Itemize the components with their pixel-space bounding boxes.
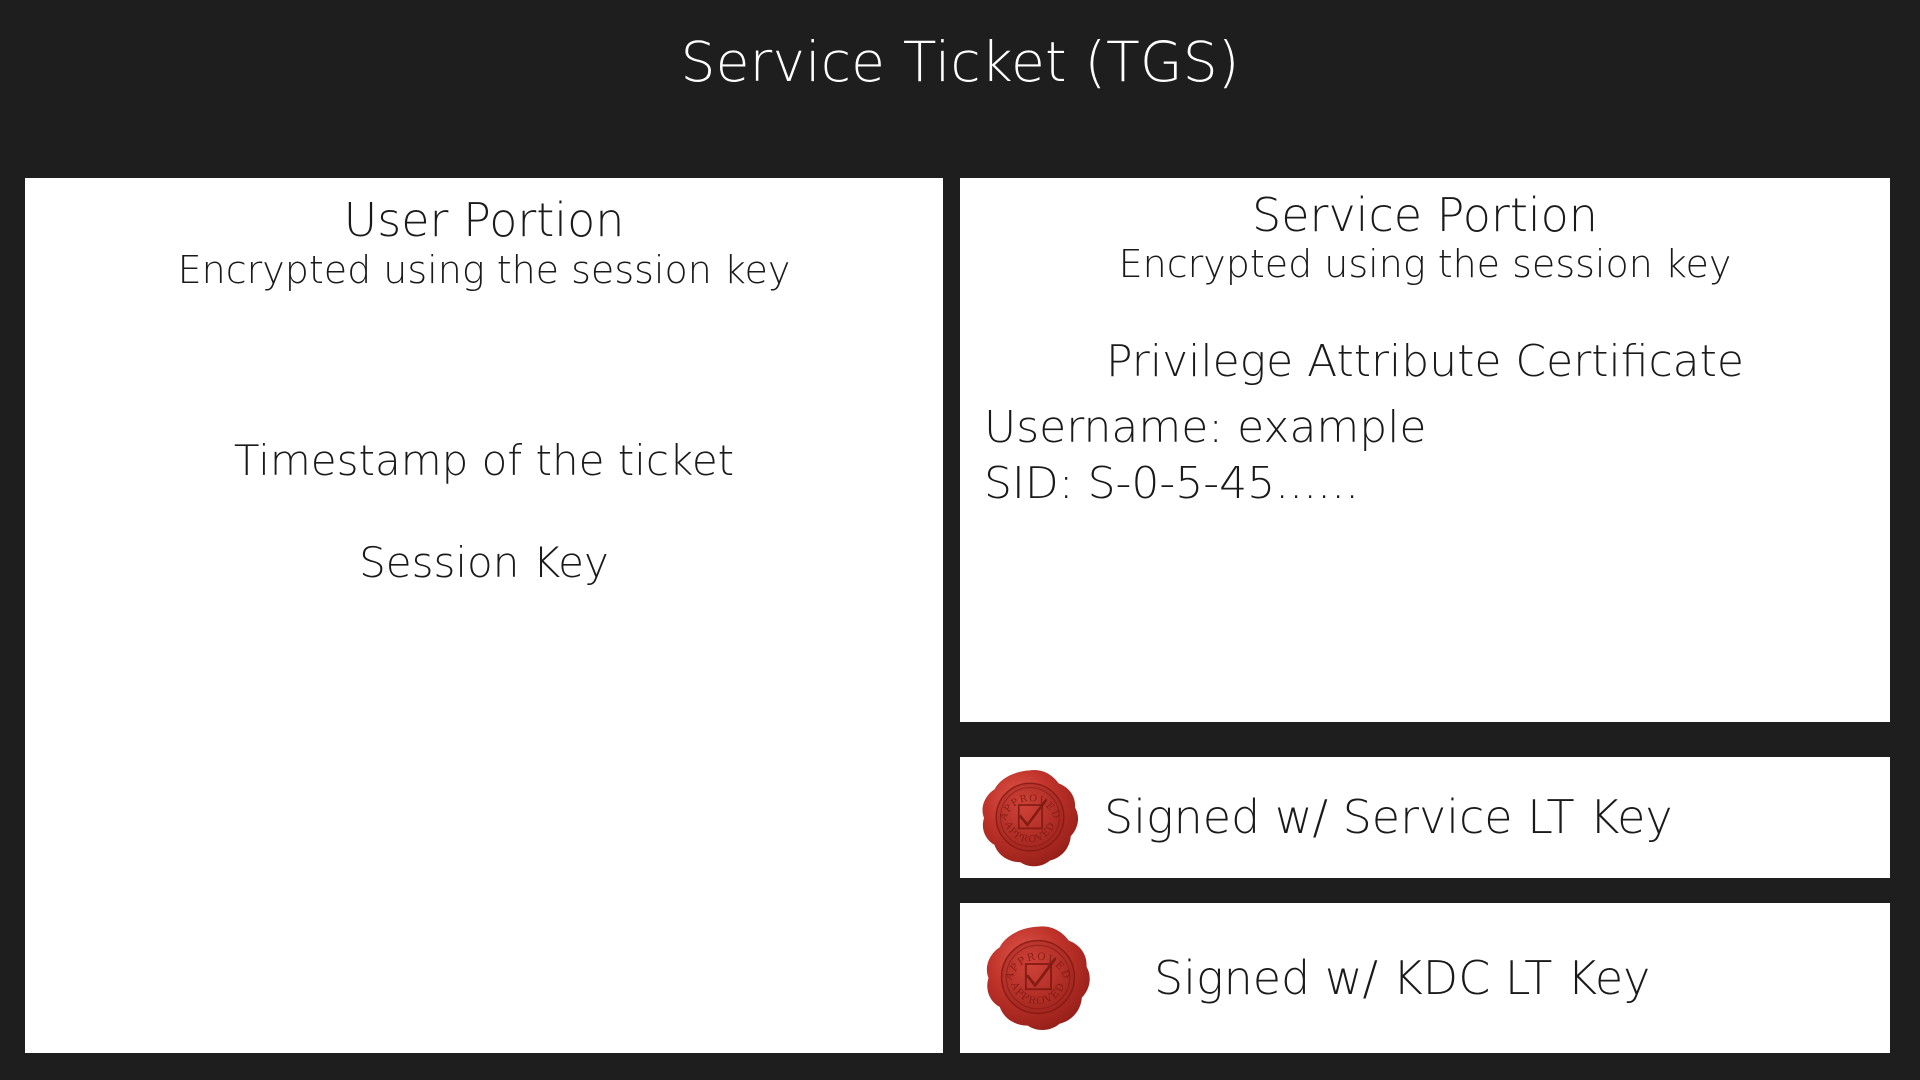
signed-service-lt-key-label: Signed w/ Service LT Key (1104, 793, 1673, 841)
signed-service-lt-key-panel: APPROVED APPROVED Signed w/ Service LT K… (960, 757, 1890, 878)
signed-kdc-lt-key-label: Signed w/ KDC LT Key (1154, 954, 1650, 1002)
wax-seal-icon: APPROVED APPROVED (978, 766, 1082, 870)
user-portion-session-key-line: Session Key (25, 540, 943, 586)
user-portion-heading: User Portion (25, 196, 943, 244)
signed-kdc-lt-key-panel: APPROVED APPROVED Signed w/ KDC LT Key (960, 903, 1890, 1053)
service-portion-subtitle: Encrypted using the session key (960, 244, 1890, 286)
pac-field-username: Username: example (984, 400, 1427, 456)
service-ticket-slide: Service Ticket (TGS) User Portion Encryp… (0, 0, 1920, 1080)
user-portion-timestamp-line: Timestamp of the ticket (25, 438, 943, 484)
pac-field-sid: SID: S-0-5-45...... (984, 456, 1427, 512)
pac-field-list: Username: example SID: S-0-5-45...... (984, 400, 1427, 513)
service-portion-heading: Service Portion (960, 191, 1890, 239)
signed-row: APPROVED APPROVED Signed w/ Service LT K… (960, 757, 1890, 878)
privilege-attribute-certificate-heading: Privilege Attribute Certificate (960, 338, 1890, 386)
wax-seal-icon: APPROVED APPROVED (982, 922, 1094, 1034)
user-portion-panel: User Portion Encrypted using the session… (25, 178, 943, 1053)
user-portion-subtitle: Encrypted using the session key (25, 250, 943, 292)
service-portion-panel: Service Portion Encrypted using the sess… (960, 178, 1890, 722)
page-title: Service Ticket (TGS) (0, 32, 1920, 93)
signed-row: APPROVED APPROVED Signed w/ KDC LT Key (960, 903, 1890, 1053)
